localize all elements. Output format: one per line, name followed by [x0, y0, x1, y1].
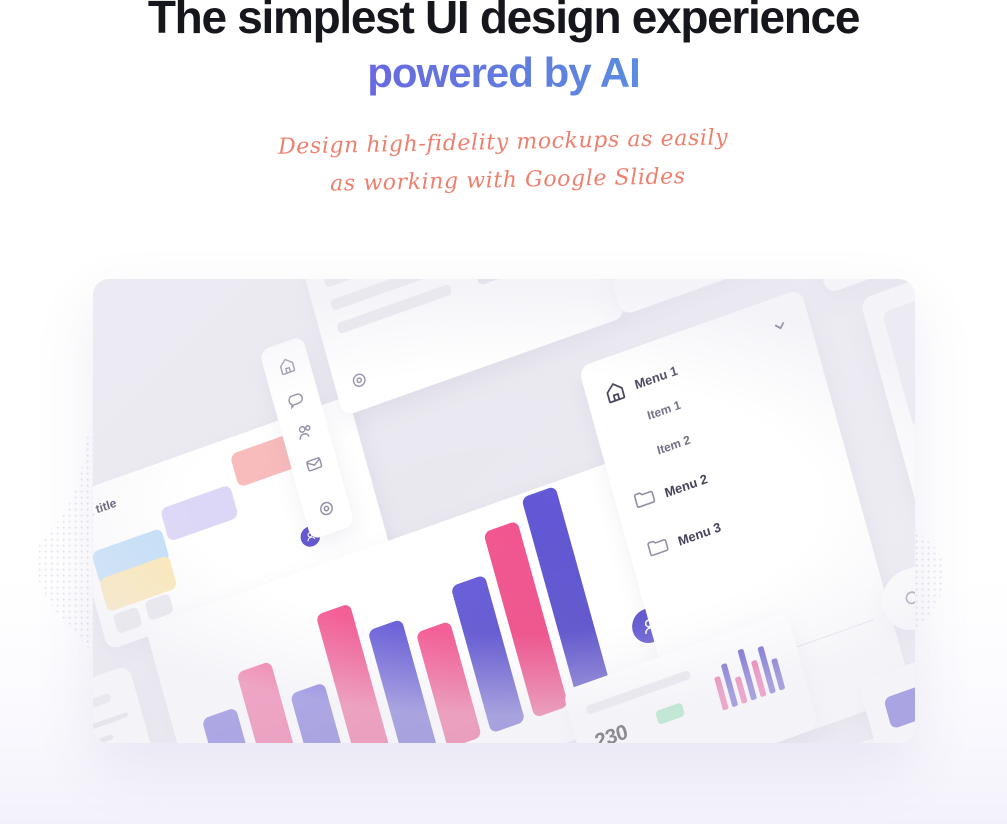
block-title-label: k title: [93, 496, 118, 520]
folder-icon-2: [645, 534, 671, 559]
right-panel-block: [882, 279, 915, 429]
home-icon-nav: [602, 377, 629, 406]
metric-trend-badge: [655, 702, 685, 725]
nav-item-menu-3[interactable]: Menu 3: [676, 519, 722, 548]
settings-icon[interactable]: [316, 497, 338, 520]
chevron-down-icon[interactable]: [770, 315, 789, 336]
home-icon[interactable]: [276, 354, 298, 377]
nav-item-item-2[interactable]: Item 2: [655, 432, 691, 457]
nav-item-menu-1[interactable]: Menu 1: [633, 363, 679, 392]
users-icon[interactable]: [294, 420, 316, 443]
left-edge-line-2: [93, 734, 114, 743]
folder-icon-1: [632, 485, 658, 510]
mockup-perspective-stage: k title: [93, 279, 915, 743]
cta-primary-button[interactable]: [883, 674, 915, 730]
metric-value: 230: [592, 720, 630, 743]
settings-icon-dialog[interactable]: [348, 369, 370, 392]
hero-heading-block: The simplest UI design experience powere…: [0, 0, 1007, 100]
hero-tagline: Design high-fidelity mockups as easily a…: [0, 113, 1007, 210]
dialog-cancel-button[interactable]: [474, 279, 521, 286]
chat-icon[interactable]: [285, 387, 307, 410]
mail-icon[interactable]: [303, 452, 325, 475]
block-footer-chip-1: [113, 606, 143, 634]
nav-item-item-1[interactable]: Item 1: [646, 398, 682, 423]
color-swatch-lavender: [160, 484, 239, 542]
landing-page: The simplest UI design experience powere…: [0, 0, 1007, 824]
hero-mockup-image: k title: [93, 279, 915, 743]
right-content-panel: [860, 279, 915, 522]
search-icon[interactable]: [901, 586, 915, 612]
mini-bar-chart: [708, 631, 795, 710]
dialog-card: [294, 279, 627, 417]
page-title: The simplest UI design experience: [0, 0, 1007, 46]
page-subtitle-gradient: powered by AI: [0, 46, 1007, 100]
nav-item-menu-2[interactable]: Menu 2: [663, 471, 709, 500]
